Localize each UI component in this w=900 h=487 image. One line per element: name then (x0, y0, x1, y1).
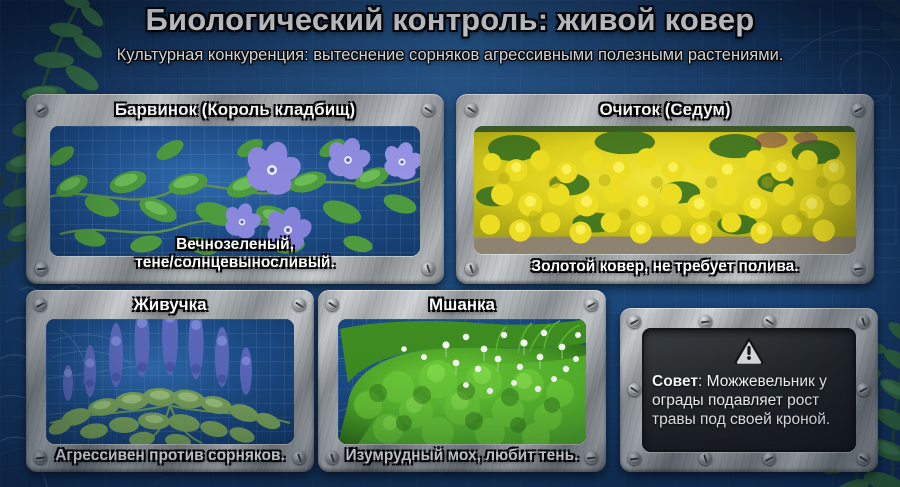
panel-title: Очиток (Седум) (456, 100, 874, 120)
panel-image-sedum (474, 126, 856, 254)
panel-sedum[interactable]: Очиток (Седум) (456, 94, 874, 284)
panel-title: Мшанка (318, 295, 606, 315)
panel-title: Барвинок (Король кладбищ) (26, 100, 444, 120)
tip-label: Совет (652, 373, 698, 390)
screw-icon (699, 315, 712, 328)
screw-icon (763, 315, 776, 328)
moss-photo (338, 319, 586, 444)
screw-icon (857, 315, 870, 328)
panel-sagina[interactable]: Мшанка (318, 290, 606, 472)
tip-separator: : (698, 373, 707, 390)
panel-ajuga[interactable]: Живучка (26, 290, 314, 472)
page-subtitle: Культурная конкуренция: вытеснение сорня… (0, 46, 900, 65)
panel-caption-line2: тене/солнцевыносливый. (26, 254, 444, 271)
screw-icon (699, 452, 712, 465)
screw-icon (628, 383, 641, 396)
panel-image-ajuga (46, 319, 294, 444)
ajuga-illustration (46, 319, 294, 444)
panel-caption: Агрессивен против сорняков. (26, 447, 314, 464)
infographic-canvas: Биологический контроль: живой ковер Куль… (0, 0, 900, 487)
sedum-photo (474, 126, 856, 254)
screw-icon (628, 315, 641, 328)
panel-periwinkle[interactable]: Барвинок (Король кладбищ) (26, 94, 444, 284)
panel-caption-line1: Вечнозеленый, (26, 236, 444, 253)
header-block: Биологический контроль: живой ковер Куль… (0, 4, 900, 65)
tip-text: Совет: Можжевельник у ограды подавляет р… (642, 373, 856, 430)
panel-image-sagina (338, 319, 586, 444)
screw-icon (763, 452, 776, 465)
screw-icon (857, 383, 870, 396)
warning-triangle-icon (734, 337, 764, 369)
screw-icon (628, 452, 641, 465)
panel-caption: Золотой ковер, не требует полива. (456, 258, 874, 275)
tip-inner-panel: Совет: Можжевельник у ограды подавляет р… (642, 328, 856, 452)
tip-panel[interactable]: Совет: Можжевельник у ограды подавляет р… (620, 308, 878, 472)
page-title: Биологический контроль: живой ковер (0, 4, 900, 37)
panel-caption: Изумрудный мох, любит тень. (318, 447, 606, 464)
panel-title: Живучка (26, 295, 314, 315)
screw-icon (857, 452, 870, 465)
